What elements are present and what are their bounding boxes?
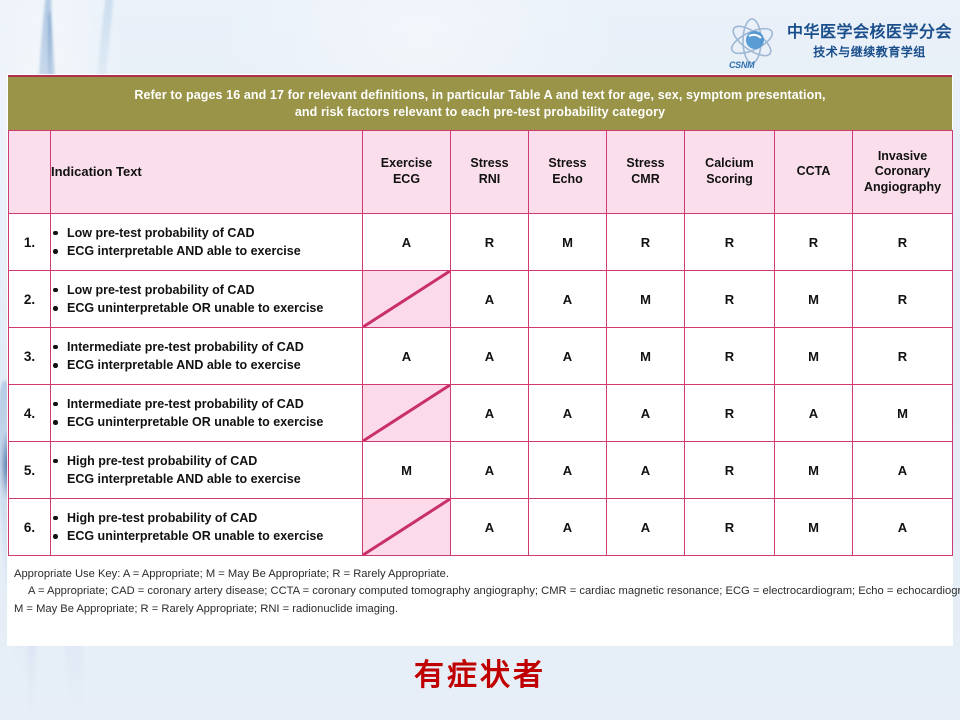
header-line: Coronary xyxy=(853,164,952,180)
header-line: CMR xyxy=(607,172,684,188)
table-banner: Refer to pages 16 and 17 for relevant de… xyxy=(8,75,952,130)
row-number: 1. xyxy=(9,214,51,271)
column-header-indication-text: Indication Text xyxy=(51,131,363,214)
indication-text-cell: Intermediate pre-test probability of CAD… xyxy=(51,385,363,442)
table-footnotes: Appropriate Use Key: A = Appropriate; M … xyxy=(8,556,952,618)
rating-cell-invasive-coronary-angiography: R xyxy=(853,328,953,385)
slide-canvas: CSNM 中华医学会核医学分会 技术与继续教育学组 Refer to pages… xyxy=(0,0,960,720)
indication-bullet-item: High pre-test probability of CAD xyxy=(51,452,362,470)
society-logo: CSNM 中华医学会核医学分会 技术与继续教育学组 xyxy=(725,14,952,68)
column-header-stress-echo: Stress Echo xyxy=(529,131,607,214)
indication-bullet-item: ECG interpretable AND able to exercise xyxy=(51,356,362,374)
atom-logo-icon: CSNM xyxy=(725,14,779,68)
rating-cell-stress-rni: A xyxy=(451,385,529,442)
indication-bullet-list: Low pre-test probability of CADECG unint… xyxy=(51,281,362,317)
rating-cell-ccta: M xyxy=(775,328,853,385)
rating-cell-ccta: M xyxy=(775,271,853,328)
indication-text-cell: Intermediate pre-test probability of CAD… xyxy=(51,328,363,385)
table-card: Refer to pages 16 and 17 for relevant de… xyxy=(8,75,952,645)
indication-text-cell: High pre-test probability of CADECG inte… xyxy=(51,442,363,499)
footnote-abbreviations-line-2: M = May Be Appropriate; R = Rarely Appro… xyxy=(14,601,946,618)
indication-bullet-item: High pre-test probability of CAD xyxy=(51,509,362,527)
indication-bullet-item: Intermediate pre-test probability of CAD xyxy=(51,395,362,413)
rating-cell-calcium-scoring: R xyxy=(685,328,775,385)
rating-cell-stress-echo: A xyxy=(529,442,607,499)
indication-bullet-item: ECG interpretable AND able to exercise xyxy=(51,470,362,488)
indication-bullet-list: Intermediate pre-test probability of CAD… xyxy=(51,338,362,374)
footnote-appropriate-use-key: Appropriate Use Key: A = Appropriate; M … xyxy=(14,566,946,583)
table-row: 6.High pre-test probability of CADECG un… xyxy=(9,499,953,556)
indication-bullet-item: Low pre-test probability of CAD xyxy=(51,224,362,242)
society-logo-text: 中华医学会核医学分会 技术与继续教育学组 xyxy=(787,25,952,58)
header-line: ECG xyxy=(363,172,450,188)
rating-cell-invasive-coronary-angiography: A xyxy=(853,442,953,499)
indication-bullet-item: ECG uninterpretable OR unable to exercis… xyxy=(51,413,362,431)
rating-cell-calcium-scoring: R xyxy=(685,214,775,271)
diagonal-slash-icon xyxy=(363,499,450,555)
diagonal-slash-icon xyxy=(363,271,450,327)
rating-cell-exercise-ecg-not-applicable xyxy=(363,271,451,328)
table-header-row: Indication Text Exercise ECG Stress RNI … xyxy=(9,131,953,214)
rating-cell-exercise-ecg-not-applicable xyxy=(363,499,451,556)
rating-cell-stress-echo: A xyxy=(529,385,607,442)
rating-cell-exercise-ecg: A xyxy=(363,214,451,271)
row-number: 2. xyxy=(9,271,51,328)
logo-acronym: CSNM xyxy=(729,60,754,70)
column-header-calcium-scoring: Calcium Scoring xyxy=(685,131,775,214)
header-line: Calcium xyxy=(685,156,774,172)
header-line: Exercise xyxy=(363,156,450,172)
slide-caption: 有症状者 xyxy=(0,650,960,694)
rating-cell-stress-echo: A xyxy=(529,271,607,328)
header-line: Invasive xyxy=(853,149,952,165)
society-name-secondary: 技术与继续教育学组 xyxy=(813,46,926,58)
column-header-number xyxy=(9,131,51,214)
row-number: 4. xyxy=(9,385,51,442)
rating-cell-calcium-scoring: R xyxy=(685,385,775,442)
rating-cell-stress-echo: A xyxy=(529,499,607,556)
rating-cell-stress-cmr: M xyxy=(607,328,685,385)
indication-bullet-list: High pre-test probability of CADECG unin… xyxy=(51,509,362,545)
indication-text-cell: High pre-test probability of CADECG unin… xyxy=(51,499,363,556)
footnote-abbreviations-line-1: A = Appropriate; CAD = coronary artery d… xyxy=(14,583,946,600)
rating-cell-ccta: M xyxy=(775,499,853,556)
rating-cell-stress-rni: R xyxy=(451,214,529,271)
header-line: Scoring xyxy=(685,172,774,188)
row-number: 5. xyxy=(9,442,51,499)
indication-bullet-item: ECG uninterpretable OR unable to exercis… xyxy=(51,299,362,317)
appropriate-use-criteria-table: Indication Text Exercise ECG Stress RNI … xyxy=(8,130,953,556)
table-row: 2.Low pre-test probability of CADECG uni… xyxy=(9,271,953,328)
header-line: Angiography xyxy=(853,180,952,196)
rating-cell-ccta: M xyxy=(775,442,853,499)
rating-cell-stress-rni: A xyxy=(451,328,529,385)
indication-bullet-list: Intermediate pre-test probability of CAD… xyxy=(51,395,362,431)
indication-bullet-item: Low pre-test probability of CAD xyxy=(51,281,362,299)
society-name-primary: 中华医学会核医学分会 xyxy=(787,25,952,41)
indication-bullet-item: ECG uninterpretable OR unable to exercis… xyxy=(51,527,362,545)
header-line: Stress xyxy=(451,156,528,172)
row-number: 6. xyxy=(9,499,51,556)
rating-cell-stress-cmr: A xyxy=(607,499,685,556)
rating-cell-invasive-coronary-angiography: R xyxy=(853,214,953,271)
indication-bullet-item: Intermediate pre-test probability of CAD xyxy=(51,338,362,356)
indication-bullet-item: ECG interpretable AND able to exercise xyxy=(51,242,362,260)
rating-cell-calcium-scoring: R xyxy=(685,442,775,499)
rating-cell-ccta: A xyxy=(775,385,853,442)
rating-cell-invasive-coronary-angiography: A xyxy=(853,499,953,556)
banner-line-1: Refer to pages 16 and 17 for relevant de… xyxy=(134,88,825,102)
rating-cell-stress-echo: A xyxy=(529,328,607,385)
rating-cell-invasive-coronary-angiography: M xyxy=(853,385,953,442)
header-line: CCTA xyxy=(775,164,852,180)
header-line: RNI xyxy=(451,172,528,188)
header-line: Stress xyxy=(607,156,684,172)
rating-cell-stress-rni: A xyxy=(451,499,529,556)
rating-cell-stress-cmr: R xyxy=(607,214,685,271)
table-row: 1.Low pre-test probability of CADECG int… xyxy=(9,214,953,271)
indication-text-cell: Low pre-test probability of CADECG unint… xyxy=(51,271,363,328)
rating-cell-calcium-scoring: R xyxy=(685,271,775,328)
row-number: 3. xyxy=(9,328,51,385)
column-header-stress-rni: Stress RNI xyxy=(451,131,529,214)
table-row: 4.Intermediate pre-test probability of C… xyxy=(9,385,953,442)
table-body: 1.Low pre-test probability of CADECG int… xyxy=(9,214,953,556)
banner-line-2: and risk factors relevant to each pre-te… xyxy=(295,105,665,119)
indication-text-cell: Low pre-test probability of CADECG inter… xyxy=(51,214,363,271)
rating-cell-ccta: R xyxy=(775,214,853,271)
rating-cell-exercise-ecg: M xyxy=(363,442,451,499)
rating-cell-stress-rni: A xyxy=(451,271,529,328)
diagonal-slash-icon xyxy=(363,385,450,441)
rating-cell-stress-cmr: M xyxy=(607,271,685,328)
rating-cell-exercise-ecg-not-applicable xyxy=(363,385,451,442)
rating-cell-stress-cmr: A xyxy=(607,442,685,499)
column-header-stress-cmr: Stress CMR xyxy=(607,131,685,214)
column-header-ccta: CCTA xyxy=(775,131,853,214)
table-row: 3.Intermediate pre-test probability of C… xyxy=(9,328,953,385)
indication-bullet-list: High pre-test probability of CADECG inte… xyxy=(51,452,362,488)
table-row: 5.High pre-test probability of CADECG in… xyxy=(9,442,953,499)
rating-cell-stress-cmr: A xyxy=(607,385,685,442)
header-line: Stress xyxy=(529,156,606,172)
rating-cell-stress-echo: M xyxy=(529,214,607,271)
indication-bullet-list: Low pre-test probability of CADECG inter… xyxy=(51,224,362,260)
rating-cell-exercise-ecg: A xyxy=(363,328,451,385)
rating-cell-calcium-scoring: R xyxy=(685,499,775,556)
column-header-exercise-ecg: Exercise ECG xyxy=(363,131,451,214)
table-head: Indication Text Exercise ECG Stress RNI … xyxy=(9,131,953,214)
column-header-invasive-coronary-angiography: Invasive Coronary Angiography xyxy=(853,131,953,214)
rating-cell-invasive-coronary-angiography: R xyxy=(853,271,953,328)
rating-cell-stress-rni: A xyxy=(451,442,529,499)
header-line: Echo xyxy=(529,172,606,188)
